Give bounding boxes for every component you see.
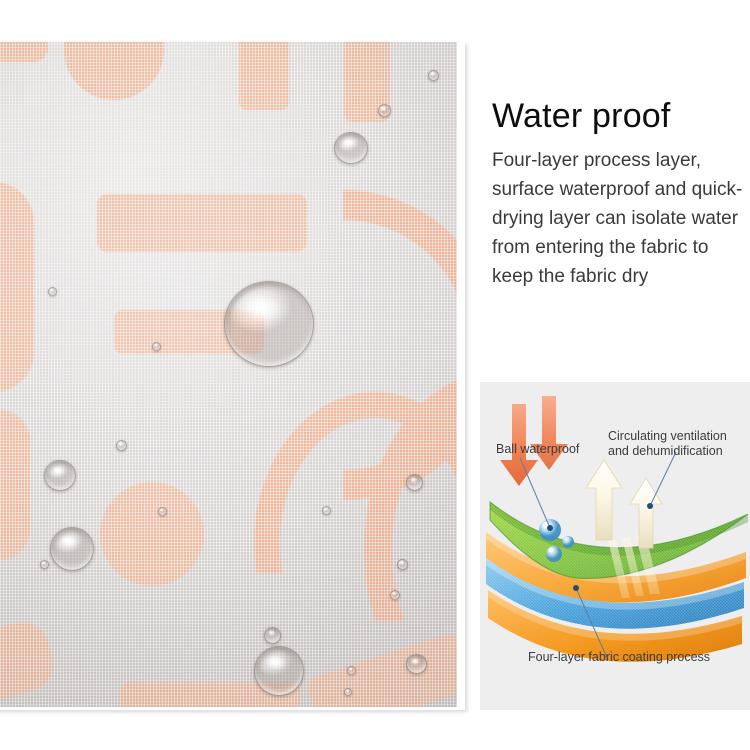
- label-circulating-ventilation: Circulating ventilation and dehumidifica…: [608, 429, 748, 459]
- fabric-layer-diagram-panel: Ball waterproof Circulating ventilation …: [480, 382, 750, 710]
- leader-end-dot: [573, 585, 579, 591]
- fabric-photo: [0, 42, 457, 707]
- label-vent-line-2: and dehumidification: [608, 444, 748, 459]
- page-title: Water proof: [492, 97, 671, 136]
- label-vent-line-1: Circulating ventilation: [608, 429, 748, 444]
- product-feature-slide: Water proof Four-layer process layer, su…: [0, 0, 750, 750]
- leader-end-dot: [547, 525, 553, 531]
- fabric-printed-pattern: [0, 42, 457, 707]
- label-ball-waterproof: Ball waterproof: [496, 442, 579, 457]
- fabric-photo-frame: [0, 42, 465, 710]
- feature-description: Four-layer process layer, surface waterp…: [492, 146, 744, 291]
- leader-end-dot: [647, 503, 653, 509]
- water-down-arrow-group: [500, 396, 568, 486]
- label-four-layer-coating: Four-layer fabric coating process: [528, 650, 710, 665]
